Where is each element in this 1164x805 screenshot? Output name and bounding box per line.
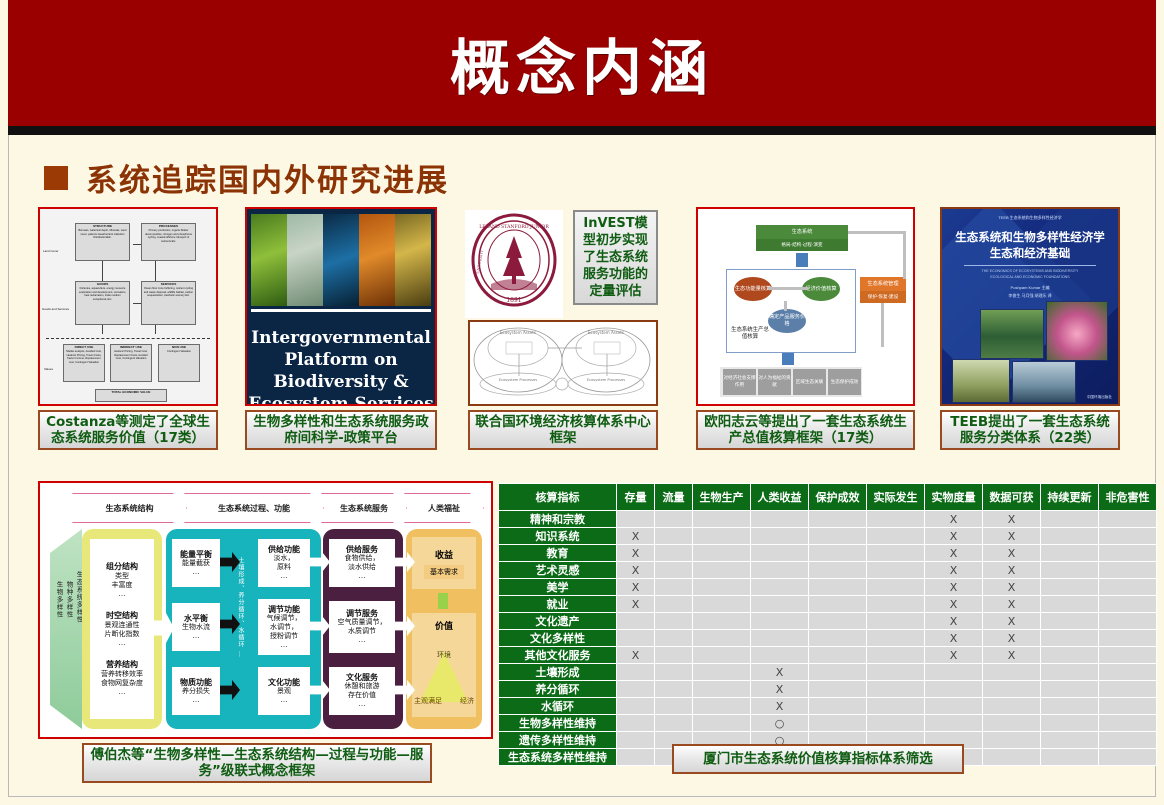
svg-text:LELAND STANFORD JUNIOR: LELAND STANFORD JUNIOR xyxy=(479,224,549,230)
table-col-2: 流量 xyxy=(655,484,693,511)
table-cell xyxy=(617,511,655,528)
table-cell xyxy=(693,579,751,596)
table-cell: X xyxy=(617,528,655,545)
table-cell xyxy=(655,698,693,715)
table-cell: X xyxy=(925,613,983,630)
table-cell: X xyxy=(617,545,655,562)
table-cell: X xyxy=(925,562,983,579)
ouyang-bottom-circle: 确定产品服务价格 xyxy=(768,309,806,333)
ouyang-right-box-sub: 保护·恢复·建设 xyxy=(860,291,906,303)
table-row: 文化遗产XX xyxy=(499,613,1157,630)
table-col-10: 非危害性 xyxy=(1099,484,1157,511)
table-cell xyxy=(655,562,693,579)
table-cell xyxy=(751,528,809,545)
teeb-book-cover-image: TEEB 生态系统和生物多样性经济学 生态系统和生物多样性经济学 生态和经济基础… xyxy=(940,207,1120,406)
costanza-box-indirect-use: INDIRECT USE Hedonic Pricing, Travel Cos… xyxy=(110,344,152,382)
table-cell xyxy=(1041,698,1099,715)
table-cell xyxy=(693,528,751,545)
table-col-4: 人类收益 xyxy=(751,484,809,511)
table-cell xyxy=(693,630,751,647)
table-cell xyxy=(809,545,867,562)
table-cell xyxy=(1099,715,1157,732)
costanza-row-label-goods: Goods and Services xyxy=(42,307,69,311)
table-cell xyxy=(693,647,751,664)
cascade-service-card-3: 文化服务 休憩和旅游 存在价值 … xyxy=(329,667,395,715)
table-cell xyxy=(867,664,925,681)
table-cell: X xyxy=(617,596,655,613)
table-row: 文化多样性XX xyxy=(499,630,1157,647)
table-cell: X xyxy=(925,545,983,562)
table-cell xyxy=(809,681,867,698)
cascade-function-card-3: 文化功能 景观 … xyxy=(258,667,310,715)
table-cell xyxy=(1099,749,1157,766)
table-cell xyxy=(1099,647,1157,664)
caption-xiamen-table: 厦门市生态系统价值核算指标体系筛选 xyxy=(672,744,964,774)
table-row-label: 艺术灵感 xyxy=(499,562,617,579)
ouyang-top-box-title: 生态系统 xyxy=(756,225,848,239)
table-row-label: 生物多样性维持 xyxy=(499,715,617,732)
table-cell xyxy=(1099,630,1157,647)
cascade-down-arrow-icon xyxy=(438,593,448,609)
table-cell: X xyxy=(925,647,983,664)
section-heading: 系统追踪国内外研究进展 xyxy=(44,155,449,200)
table-cell xyxy=(1041,596,1099,613)
costanza-diagram-image: Land Cover Goods and Services Values STR… xyxy=(38,207,218,406)
table-cell xyxy=(693,664,751,681)
cascade-process-card-2: 水平衡 生物水流 … xyxy=(172,603,220,651)
table-cell xyxy=(867,630,925,647)
table-cell xyxy=(867,545,925,562)
table-cell: X xyxy=(983,613,1041,630)
ouyang-top-box-sub: 格局·结构·过程·演变 xyxy=(756,239,848,251)
table-row: 教育XXX xyxy=(499,545,1157,562)
cascade-stage-3: 生态系统服务 xyxy=(321,493,407,523)
table-cell: X xyxy=(751,664,809,681)
table-cell xyxy=(983,664,1041,681)
table-cell xyxy=(693,681,751,698)
table-cell xyxy=(655,613,693,630)
table-row-label: 知识系统 xyxy=(499,528,617,545)
cascade-axis-label-2: 物种多样性 xyxy=(64,581,74,619)
accounting-indicator-table: 核算指标 存量 流量 生物生产 人类收益 保护成效 实际发生 实物度量 数据可获… xyxy=(498,483,1157,766)
table-cell xyxy=(751,630,809,647)
table-cell: X xyxy=(983,562,1041,579)
costanza-box-direct-use: DIRECT USE Market analysis, Avoided Cost… xyxy=(63,344,105,382)
caption-cascade: 傅伯杰等“生物多样性—生态系统结构—过程与功能—服务”级联式概念框架 xyxy=(82,743,432,783)
table-cell xyxy=(751,579,809,596)
table-cell xyxy=(1041,630,1099,647)
table-row: 生物多样性维持○ xyxy=(499,715,1157,732)
header-divider-rule xyxy=(8,126,1156,135)
costanza-box-structure: STRUCTURE Biomass, water/soil depth, Min… xyxy=(75,223,130,261)
table-cell xyxy=(1041,681,1099,698)
costanza-box-non-use: NON USE Contingent Valuation xyxy=(158,344,200,382)
table-cell xyxy=(655,511,693,528)
table-cell xyxy=(983,749,1041,766)
costanza-row-label-landcover: Land Cover xyxy=(43,249,59,253)
table-cell xyxy=(867,562,925,579)
table-col-8: 数据可获 xyxy=(983,484,1041,511)
table-row: 养分循环X xyxy=(499,681,1157,698)
bullet-square-icon xyxy=(44,166,68,190)
table-cell: X xyxy=(983,528,1041,545)
table-row: 土壤形成X xyxy=(499,664,1157,681)
table-row-label: 教育 xyxy=(499,545,617,562)
table-row-label: 精神和宗教 xyxy=(499,511,617,528)
table-header-row: 核算指标 存量 流量 生物生产 人类收益 保护成效 实际发生 实物度量 数据可获… xyxy=(499,484,1157,511)
table-cell xyxy=(867,698,925,715)
table-cell: X xyxy=(751,698,809,715)
table-cell xyxy=(693,613,751,630)
table-cell xyxy=(693,562,751,579)
table-cell xyxy=(867,579,925,596)
table-cell xyxy=(1041,749,1099,766)
table-cell xyxy=(809,511,867,528)
table-body: 精神和宗教XX知识系统XXX教育XXX艺术灵感XXX美学XXX就业XXX文化遗产… xyxy=(499,511,1157,766)
table-row-label: 就业 xyxy=(499,596,617,613)
table-cell xyxy=(809,579,867,596)
table-cell xyxy=(867,613,925,630)
table-col-7: 实物度量 xyxy=(925,484,983,511)
table-cell xyxy=(693,545,751,562)
cascade-framework-image: 生态系统结构 生态系统过程、功能 生态系统服务 人类福祉 生物多样性 物种多样性… xyxy=(38,481,493,739)
teeb-title-en-1: THE ECONOMICS OF ECOSYSTEMS AND BIODIVER… xyxy=(952,269,1108,274)
table-cell xyxy=(1041,579,1099,596)
table-cell: X xyxy=(983,545,1041,562)
table-cell xyxy=(809,664,867,681)
table-cell xyxy=(809,596,867,613)
cascade-stage-4: 人类福祉 xyxy=(404,493,484,523)
ouyang-bottom-box-1: 对经济社会支撑作用 xyxy=(723,369,756,395)
table-cell xyxy=(1099,732,1157,749)
ipbes-banner-title: Intergovernmental Platform on Biodiversi… xyxy=(247,327,435,406)
costanza-box-processes: PROCESSES Primary production, organic Ma… xyxy=(141,223,196,261)
table-col-9: 持续更新 xyxy=(1041,484,1099,511)
invest-callout-box: InVEST模型初步实现了生态系统服务功能的定量评估 xyxy=(573,210,658,305)
teeb-photo-tree xyxy=(1012,361,1076,403)
table-cell xyxy=(983,715,1041,732)
svg-text:Ecosystem Processes: Ecosystem Processes xyxy=(499,378,537,382)
table-cell xyxy=(1041,528,1099,545)
table-cell xyxy=(655,681,693,698)
table-cell xyxy=(751,511,809,528)
table-cell xyxy=(1041,664,1099,681)
costanza-box-total-economic-value: TOTAL ECONOMIC VALUE xyxy=(95,389,167,402)
table-col-3: 生物生产 xyxy=(693,484,751,511)
teeb-author-en: Pushpam Kumar 主编 xyxy=(952,285,1108,291)
seea-diagram-svg: Ecosystem Assets Ecosystem Assets Ecosys… xyxy=(470,322,656,404)
table-cell xyxy=(693,698,751,715)
table-cell: X xyxy=(983,579,1041,596)
stanford-seal-image: LELAND STANFORD JUNIOR 1891 UNIVERSITY xyxy=(465,210,563,318)
cascade-stage-1: 生态系统结构 xyxy=(72,493,187,523)
table-row-label: 养分循环 xyxy=(499,681,617,698)
table-cell xyxy=(809,528,867,545)
table-cell xyxy=(1041,715,1099,732)
table-cell xyxy=(617,715,655,732)
caption-seea: 联合国环境经济核算体系中心框架 xyxy=(468,410,658,450)
table-cell xyxy=(1099,613,1157,630)
table-cell xyxy=(809,562,867,579)
ipbes-banner-image: Intergovernmental Platform on Biodiversi… xyxy=(245,207,437,406)
table-cell xyxy=(617,664,655,681)
table-cell xyxy=(983,698,1041,715)
table-cell xyxy=(867,681,925,698)
table-cell xyxy=(925,698,983,715)
table-cell: X xyxy=(617,562,655,579)
table-cell: X xyxy=(617,647,655,664)
slide-header-band: 概念内涵 xyxy=(8,0,1156,126)
svg-text:Ecosystem Assets: Ecosystem Assets xyxy=(588,330,624,335)
table-row-label: 生态系统多样性维持 xyxy=(499,749,617,766)
table-cell: X xyxy=(925,630,983,647)
table-cell xyxy=(655,664,693,681)
table-cell xyxy=(867,715,925,732)
table-row: 水循环X xyxy=(499,698,1157,715)
table-cell xyxy=(1041,562,1099,579)
cascade-stage-2: 生态系统过程、功能 xyxy=(184,493,324,523)
table-cell xyxy=(1099,545,1157,562)
cascade-value-card: 价值 环境 主观满足 经济 xyxy=(412,613,476,717)
table-cell xyxy=(1099,681,1157,698)
table-cell xyxy=(655,647,693,664)
cascade-function-card-2: 调节功能 气候调节， 水调节， 授粉调节 … xyxy=(258,599,310,655)
cascade-structure-cards: 组分结构 类型 丰富度 … 时空结构 景观连通性 片断化指数 … 营养结构 营养… xyxy=(90,539,154,719)
table-cell xyxy=(1099,562,1157,579)
svg-text:Ecosystem Processes: Ecosystem Processes xyxy=(587,378,625,382)
table-row-label: 文化遗产 xyxy=(499,613,617,630)
table-cell xyxy=(983,732,1041,749)
table-cell xyxy=(809,630,867,647)
table-cell xyxy=(751,647,809,664)
teeb-publisher: 中国环境出版社 xyxy=(1087,395,1112,400)
table-cell xyxy=(1099,528,1157,545)
table-cell: X xyxy=(983,596,1041,613)
teeb-author-cn: 李俊生 马月强 胡理乐 译 xyxy=(952,293,1108,299)
teeb-imprint: TEEB 生态系统和生物多样性经济学 xyxy=(942,215,1118,221)
table-cell xyxy=(617,749,655,766)
ouyang-right-box-title: 生态系统管理 xyxy=(860,277,906,291)
table-cell xyxy=(925,681,983,698)
table-cell xyxy=(655,715,693,732)
page-title: 概念内涵 xyxy=(8,0,1156,126)
table-cell xyxy=(655,630,693,647)
table-col-5: 保护成效 xyxy=(809,484,867,511)
caption-ouyang: 欧阳志云等提出了一套生态系统生产总值核算框架（17类） xyxy=(696,410,915,450)
table-row-label: 水循环 xyxy=(499,698,617,715)
table-cell xyxy=(617,613,655,630)
table-row: 知识系统XXX xyxy=(499,528,1157,545)
caption-teeb: TEEB提出了一套生态系统服务分类体系（22类） xyxy=(940,410,1120,450)
ouyang-bottom-box-4: 生态保护成效 xyxy=(828,369,861,395)
svg-text:1891: 1891 xyxy=(506,297,521,304)
table-cell: X xyxy=(925,528,983,545)
table-cell xyxy=(1041,647,1099,664)
table-cell: ○ xyxy=(751,715,809,732)
table-cell xyxy=(617,698,655,715)
ouyang-bottom-box-3: 区域生态关联 xyxy=(793,369,826,395)
table-cell: X xyxy=(983,647,1041,664)
cascade-process-card-3: 物质功能 养分损失 … xyxy=(172,667,220,715)
caption-costanza: Costanza等测定了全球生态系统服务价值（17类） xyxy=(38,410,218,450)
table-cell xyxy=(751,596,809,613)
table-cell xyxy=(655,528,693,545)
table-cell: X xyxy=(751,681,809,698)
table-cell xyxy=(617,732,655,749)
cascade-benefit-card: 收益 基本需求 xyxy=(412,537,476,589)
table-row: 精神和宗教XX xyxy=(499,511,1157,528)
table-cell xyxy=(1041,511,1099,528)
table-cell xyxy=(617,681,655,698)
cascade-process-card-1: 能量平衡 能量截获 … xyxy=(172,539,220,587)
table-cell xyxy=(925,715,983,732)
ouyang-framework-image: 生态系统 格局·结构·过程·演变 生态功能量核算 经济价值核算 确定产品服务价格… xyxy=(696,207,915,406)
table-row-label: 其他文化服务 xyxy=(499,647,617,664)
seea-central-framework-diagram: Ecosystem Assets Ecosystem Assets Ecosys… xyxy=(468,320,658,406)
table-cell xyxy=(751,613,809,630)
table-cell: X xyxy=(925,511,983,528)
table-col-6: 实际发生 xyxy=(867,484,925,511)
ouyang-left-circle: 生态功能量核算 xyxy=(734,277,772,301)
table-cell xyxy=(867,596,925,613)
cascade-middle-vertical-label: 土壤形成、养分循环、水循环 … xyxy=(236,557,245,658)
table-cell xyxy=(751,545,809,562)
costanza-row-label-values: Values xyxy=(44,367,53,371)
cascade-axis-label-1: 生物多样性 xyxy=(54,581,64,619)
svg-text:Ecosystem Assets: Ecosystem Assets xyxy=(500,330,536,335)
table-cell xyxy=(655,579,693,596)
table-cell xyxy=(1099,664,1157,681)
teeb-photo-bird xyxy=(952,359,1010,403)
table-cell xyxy=(617,630,655,647)
table-row-label: 美学 xyxy=(499,579,617,596)
slide-canvas: 概念内涵 系统追踪国内外研究进展 Land Cover Goods and Se… xyxy=(0,0,1164,805)
table-cell xyxy=(1099,511,1157,528)
ouyang-frame-label: 生态系统生产总值核算 xyxy=(730,323,770,345)
costanza-box-goods: GOODS Fisheries, aquaculture, energy res… xyxy=(75,281,130,325)
table-cell xyxy=(809,647,867,664)
table-row: 其他文化服务XXX xyxy=(499,647,1157,664)
table-cell xyxy=(655,545,693,562)
cascade-function-card-1: 供给功能 淡水， 原料 … xyxy=(258,539,310,587)
table-row: 就业XXX xyxy=(499,596,1157,613)
table-row-label: 遗传多样性维持 xyxy=(499,732,617,749)
table-cell: X xyxy=(983,511,1041,528)
table-row-label: 文化多样性 xyxy=(499,630,617,647)
table-cell: X xyxy=(617,579,655,596)
table-cell xyxy=(1041,732,1099,749)
table-cell xyxy=(1099,698,1157,715)
teeb-title-cn-2: 生态和经济基础 xyxy=(948,247,1112,262)
cascade-service-card-1: 供给服务 食物供给， 淡水供给 … xyxy=(329,539,395,587)
table-cell: X xyxy=(925,579,983,596)
stanford-seal-svg: LELAND STANFORD JUNIOR 1891 UNIVERSITY xyxy=(465,210,563,318)
table-cell xyxy=(809,715,867,732)
teeb-title-cn-1: 生态系统和生物多样性经济学 xyxy=(948,231,1112,246)
ouyang-bottom-box-2: 对人为福祉的贡献 xyxy=(758,369,791,395)
table-row: 艺术灵感XXX xyxy=(499,562,1157,579)
table-cell: X xyxy=(925,596,983,613)
table-cell xyxy=(867,647,925,664)
teeb-title-en-2: ECOLOGICAL AND ECONOMIC FOUNDATIONS xyxy=(952,275,1108,280)
table-cell xyxy=(1041,545,1099,562)
table-cell xyxy=(1099,596,1157,613)
table-cell xyxy=(983,681,1041,698)
table-cell xyxy=(693,715,751,732)
table-cell xyxy=(1041,613,1099,630)
table-cell xyxy=(809,698,867,715)
teeb-photo-flower xyxy=(1046,301,1108,361)
table-cell xyxy=(809,613,867,630)
accounting-indicator-table-wrap: 核算指标 存量 流量 生物生产 人类收益 保护成效 实际发生 实物度量 数据可获… xyxy=(498,483,1153,766)
table-cell xyxy=(867,528,925,545)
table-col-1: 存量 xyxy=(617,484,655,511)
table-cell xyxy=(751,562,809,579)
teeb-photo-mountain xyxy=(980,309,1044,359)
table-cell xyxy=(925,664,983,681)
table-cell xyxy=(1099,579,1157,596)
costanza-box-services: SERVICES Ocean floor zone buffering, nut… xyxy=(141,281,196,325)
table-row-label: 土壤形成 xyxy=(499,664,617,681)
cascade-biodiversity-wedge xyxy=(50,529,82,729)
table-cell: X xyxy=(983,630,1041,647)
section-heading-label: 系统追踪国内外研究进展 xyxy=(86,155,449,200)
table-cell xyxy=(693,596,751,613)
table-row: 美学XXX xyxy=(499,579,1157,596)
table-cell xyxy=(867,511,925,528)
table-cell xyxy=(655,596,693,613)
table-col-0: 核算指标 xyxy=(499,484,617,511)
table-cell xyxy=(693,511,751,528)
caption-ipbes: 生物多样性和生态系统服务政府间科学-政策平台 xyxy=(245,410,437,450)
cascade-service-card-2: 调节服务 空气质量调节， 水质调节 … xyxy=(329,601,395,653)
ipbes-photo-strip xyxy=(251,214,431,306)
